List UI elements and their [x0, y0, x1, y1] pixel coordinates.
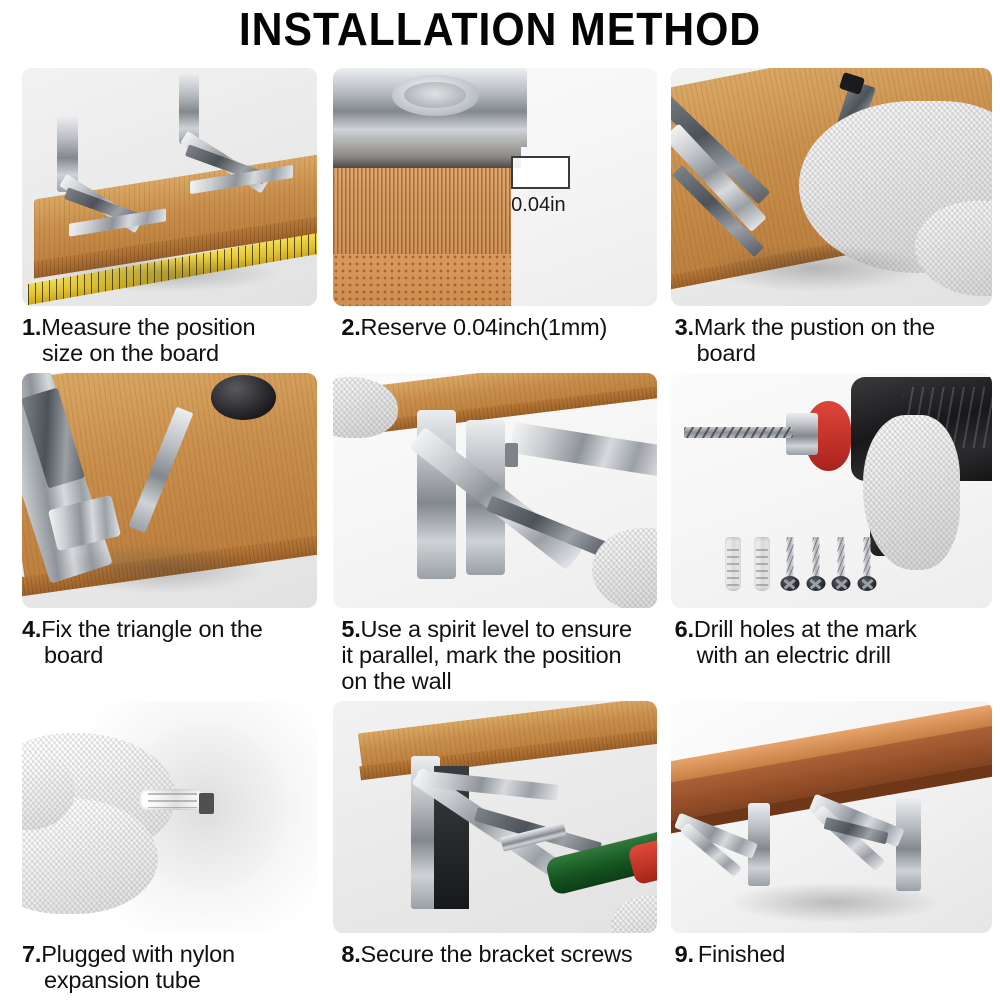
- step-image-4: [22, 373, 317, 608]
- step-card-8: 8.Secure the bracket screws: [333, 695, 666, 994]
- page-title: INSTALLATION METHOD: [35, 0, 965, 58]
- step-image-9: [671, 701, 992, 933]
- step-text-7-line2: expansion tube: [22, 967, 323, 993]
- step-caption-7: 7.Plugged with nylon expansion tube: [0, 933, 333, 994]
- step-caption-3: 3.Mark the pustion on the board: [667, 306, 1000, 367]
- step-number-3: 3.: [675, 314, 694, 340]
- step-caption-5: 5.Use a spirit level to ensure it parall…: [333, 608, 666, 695]
- step-card-3: 3.Mark the pustion on the board: [667, 62, 1000, 367]
- screw: [806, 537, 826, 591]
- step-text-2-line1: Reserve 0.04inch(1mm): [361, 314, 608, 340]
- step-card-6: 6.Drill holes at the mark with an electr…: [667, 367, 1000, 695]
- step-text-4-line1: Fix the triangle on the: [41, 616, 262, 642]
- step-number-6: 6.: [675, 616, 694, 642]
- step-image-2: 0.04in: [333, 68, 656, 306]
- step-text-9-line1: Finished: [694, 941, 785, 967]
- step-card-7: 7.Plugged with nylon expansion tube: [0, 695, 333, 994]
- step-number-4: 4.: [22, 616, 41, 642]
- step-caption-1: 1.Measure the position size on the board: [0, 306, 333, 367]
- spirit-level: [510, 422, 657, 476]
- step-number-8: 8.: [341, 941, 360, 967]
- step-card-1: 1.Measure the position size on the board: [0, 62, 333, 367]
- step-image-8: [333, 701, 656, 933]
- step-text-3-line2: board: [675, 340, 996, 366]
- step-text-6-line1: Drill holes at the mark: [694, 616, 917, 642]
- step-text-7-line1: Plugged with nylon: [41, 941, 235, 967]
- screw: [831, 537, 851, 591]
- gap-annotation-label: 0.04in: [511, 194, 566, 217]
- step-text-6-line2: with an electric drill: [675, 642, 996, 668]
- step-image-1: [22, 68, 317, 306]
- step-text-5-line3: on the wall: [341, 668, 662, 694]
- screwdriver-handle: [211, 375, 276, 420]
- step-image-3: [671, 68, 992, 306]
- step-text-5-line2: it parallel, mark the position: [341, 642, 662, 668]
- step-caption-6: 6.Drill holes at the mark with an electr…: [667, 608, 1000, 669]
- step-card-9: 9.Finished: [667, 695, 1000, 994]
- step-text-1-line1: Measure the position: [41, 314, 255, 340]
- step-text-5-line1: Use a spirit level to ensure: [361, 616, 632, 642]
- step-text-4-line2: board: [22, 642, 323, 668]
- step-card-4: 4.Fix the triangle on the board: [0, 367, 333, 695]
- step-card-5: 5.Use a spirit level to ensure it parall…: [333, 367, 666, 695]
- step-caption-9: 9.Finished: [667, 933, 1000, 967]
- screw: [780, 537, 800, 591]
- nylon-anchor: [754, 537, 770, 591]
- step-number-9: 9.: [675, 941, 694, 967]
- steps-grid: 1.Measure the position size on the board…: [0, 62, 1000, 993]
- step-card-2: 0.04in 2.Reserve 0.04inch(1mm): [333, 62, 666, 367]
- step-caption-8: 8.Secure the bracket screws: [333, 933, 666, 967]
- step-image-5: [333, 373, 656, 608]
- step-number-1: 1.: [22, 314, 41, 340]
- drill-bit: [684, 427, 793, 439]
- step-number-5: 5.: [341, 616, 360, 642]
- step-text-8-line1: Secure the bracket screws: [361, 941, 633, 967]
- step-caption-4: 4.Fix the triangle on the board: [0, 608, 333, 669]
- step-text-1-line2: size on the board: [22, 340, 323, 366]
- nylon-anchor: [725, 537, 741, 591]
- screw: [857, 537, 877, 591]
- nylon-anchor: [140, 789, 205, 810]
- step-number-2: 2.: [341, 314, 360, 340]
- step-caption-2: 2.Reserve 0.04inch(1mm): [333, 306, 666, 340]
- gap-indicator: [511, 156, 570, 189]
- step-image-7: [22, 701, 317, 933]
- step-image-6: [671, 373, 992, 608]
- step-number-7: 7.: [22, 941, 41, 967]
- step-text-3-line1: Mark the pustion on the: [694, 314, 935, 340]
- glove-hand: [863, 415, 959, 570]
